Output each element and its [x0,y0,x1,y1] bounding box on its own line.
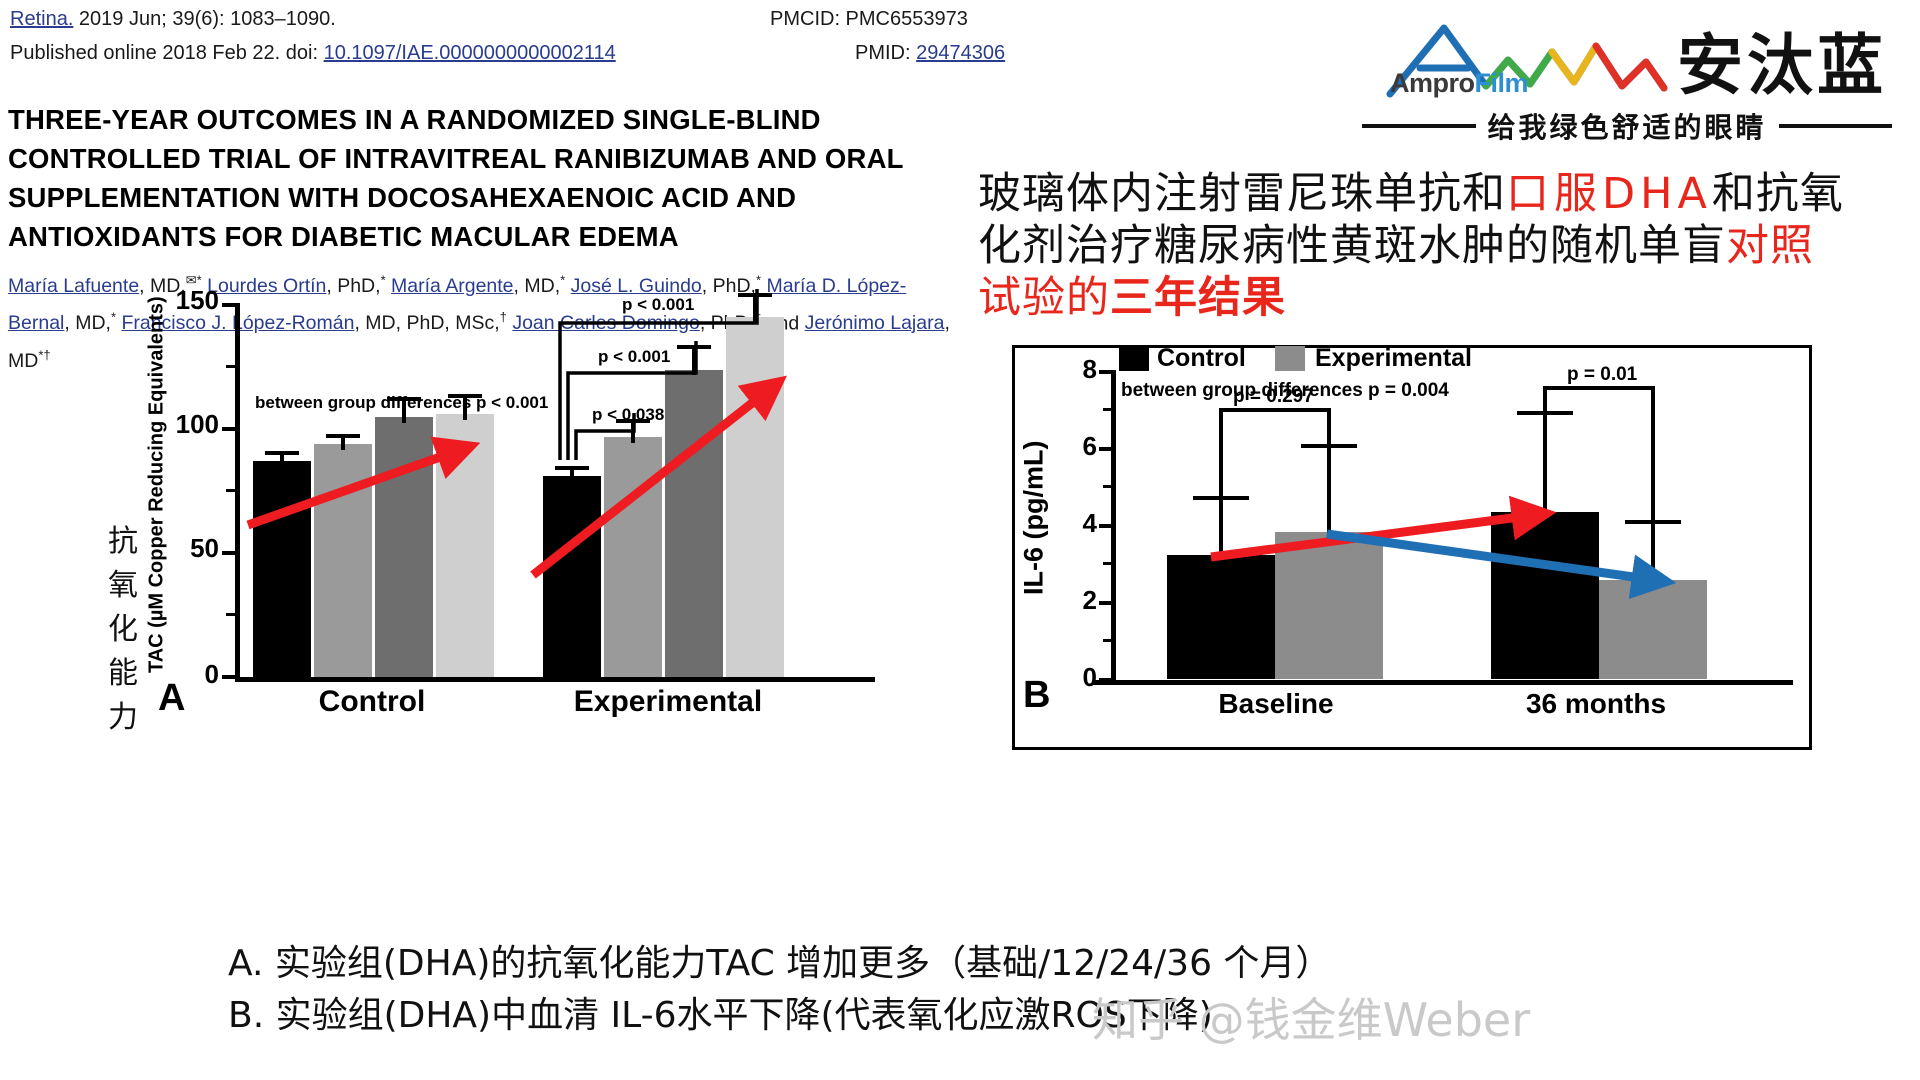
chart-a-ytick-150 [222,303,238,307]
cn-title-seg: 玻璃体内注射雷尼珠单抗和 [978,169,1506,219]
chart-a-between-group-note: between group differences p < 0.001 [255,393,548,413]
citation-volume: 2019 Jun; 39(6): 1083–1090. [73,8,335,30]
chart-b-legend-swatch-experimental [1275,346,1305,371]
tagline-rule-left [1362,124,1476,128]
chart-b-bar-control-36m [1491,512,1599,679]
chart-a-ytick-100 [222,427,238,431]
citation-line-1: Retina. 2019 Jun; 39(6): 1083–1090. [10,8,336,31]
chart-a-ylabel-150: 150 [155,285,219,316]
chart-b-ylabel-6: 6 [1063,431,1097,462]
caption-line-a: A. 实验组(DHA)的抗氧化能力TAC 增加更多（基础/12/24/36 个月… [228,938,1728,990]
chart-a-ylabel-50: 50 [155,533,219,564]
chart-a-error-control-baseline [265,451,299,455]
chart-b-ytick-2 [1099,601,1116,605]
chart-b-panel-letter: B [1023,674,1050,717]
chart-a-bar-control-24m [375,417,433,677]
chart-b-y-axis-label: IL-6 (pg/mL) [1017,388,1051,648]
logo-word-ampro: Ampro [1390,68,1475,98]
chart-b-ytick-minor [1103,485,1116,488]
antioxidant-capacity-cn-label: 抗氧化能力 [100,520,146,740]
chart-b-pvalue-baseline: p = 0.297 [1233,386,1314,408]
chart-a-pvalue-2: p < 0.001 [598,347,670,367]
chinese-title: 玻璃体内注射雷尼珠单抗和口服DHA和抗氧 化剂治疗糖尿病性黄斑水肿的随机单盲对照… [978,168,1908,324]
cn-title-highlight: 试验的 [978,273,1110,323]
journal-link[interactable]: Retina. [10,8,73,30]
chart-a-bar-control-36m [436,414,494,677]
chart-a-ytick-minor [226,613,238,616]
logo-tagline-row: 给我绿色舒适的眼睛 [1362,106,1892,146]
logo-brand-cn: 安汰蓝 [1677,12,1887,108]
chart-a-ytick-50 [222,551,238,555]
cn-title-emphasis: 三年结果 [1110,273,1286,323]
chart-b-ylabel-0: 0 [1063,662,1097,693]
chart-a-bar-control-12m [314,444,372,677]
page-title: THREE-YEAR OUTCOMES IN A RANDOMIZED SING… [8,100,968,256]
chart-a-ylabel-100: 100 [155,409,219,440]
chart-b-xlabel-36months: 36 months [1471,688,1721,720]
chart-b-ytick-0 [1099,678,1116,682]
chart-b-legend-label-experimental: Experimental [1315,344,1472,373]
chart-a-error-control-12m [326,434,360,438]
chart-b-pvalue-36m: p = 0.01 [1567,364,1637,386]
chart-a-error-exp-baseline [555,466,589,470]
author-marks: * [111,310,116,325]
chart-a-y-axis [235,303,240,681]
chart-a-bar-exp-36m [726,317,784,677]
pmid-row: PMID: 29474306 [855,42,1005,65]
pmcid-label: PMCID: PMC6553973 [770,8,968,31]
chart-a-error-exp-24m [677,345,711,349]
chart-a-pvalue-3: p < 0.001 [622,295,694,315]
chart-a-ytick-0 [222,675,238,679]
chart-b-x-axis [1093,680,1793,685]
chart-a-xlabel-experimental: Experimental [518,685,818,719]
chart-a-pvalue-1: p < 0.038 [592,405,664,425]
tagline-rule-right [1779,124,1893,128]
chart-b-ytick-4 [1099,524,1116,528]
cn-title-highlight: 口服DHA [1506,169,1712,219]
pmid-link[interactable]: 29474306 [916,42,1005,64]
chart-a-bar-control-baseline [253,461,311,677]
chart-a-y-axis-label: TAC (µM Copper Reducing Equivalents) [142,285,172,685]
amprofilm-wordmark: AmproFilm [1390,68,1528,99]
chart-b-ylabel-8: 8 [1063,354,1097,385]
chart-b-ylabel-4: 4 [1063,508,1097,539]
chart-a-x-axis [235,677,875,682]
chart-a-bar-exp-24m [665,370,723,677]
chart-a-bar-exp-12m [604,437,662,677]
chart-a-ytick-minor [226,365,238,368]
chart-b-ylabel-2: 2 [1063,585,1097,616]
doi-link[interactable]: 10.1097/IAE.0000000000002114 [324,42,616,64]
chart-a-panel-letter: A [158,677,185,720]
chart-a-xlabel-control: Control [232,685,512,719]
chart-a-tac: TAC (µM Copper Reducing Equivalents) 0 5… [150,285,940,735]
chart-b-ytick-8 [1099,370,1116,374]
chart-b-legend-label-control: Control [1157,344,1246,373]
author-marks: *† [38,347,50,362]
author-link[interactable]: María Lafuente [8,275,139,297]
chart-b-bar-experimental-36m [1599,580,1707,679]
chart-b-xlabel-baseline: Baseline [1151,688,1401,720]
logo-word-film: Film [1475,68,1529,98]
author-degrees: , MD, [64,312,111,334]
chart-b-legend-swatch-control [1119,346,1149,371]
chart-b-bar-experimental-baseline [1275,532,1383,679]
pmid-label: PMID: [855,42,916,64]
chart-a-bar-exp-baseline [543,476,601,677]
published-label: Published online 2018 Feb 22. doi: [10,42,324,64]
zhihu-watermark: 知乎 @钱金维Weber [1092,984,1530,1050]
amprofilm-logo: AmproFilm 安汰蓝 给我绿色舒适的眼睛 [1322,6,1902,126]
chart-a-error-exp-36m [738,293,772,297]
chart-b-ytick-minor [1103,408,1116,411]
chart-b-ytick-minor [1103,639,1116,642]
cn-title-highlight: 对照 [1726,221,1814,271]
citation-line-2: Published online 2018 Feb 22. doi: 10.10… [10,42,616,65]
cn-title-seg: 化剂治疗糖尿病性黄斑水肿的随机单盲 [978,221,1726,271]
chart-b-bar-control-baseline [1167,555,1275,679]
cn-title-seg: 和抗氧 [1712,169,1844,219]
chart-b-il6: IL-6 (pg/mL) 0 2 4 6 8 Control Experimen… [1012,345,1812,750]
chart-b-ytick-6 [1099,447,1116,451]
chart-a-ytick-minor [226,489,238,492]
logo-tagline: 给我绿色舒适的眼睛 [1488,106,1767,146]
chart-b-ytick-minor [1103,562,1116,565]
